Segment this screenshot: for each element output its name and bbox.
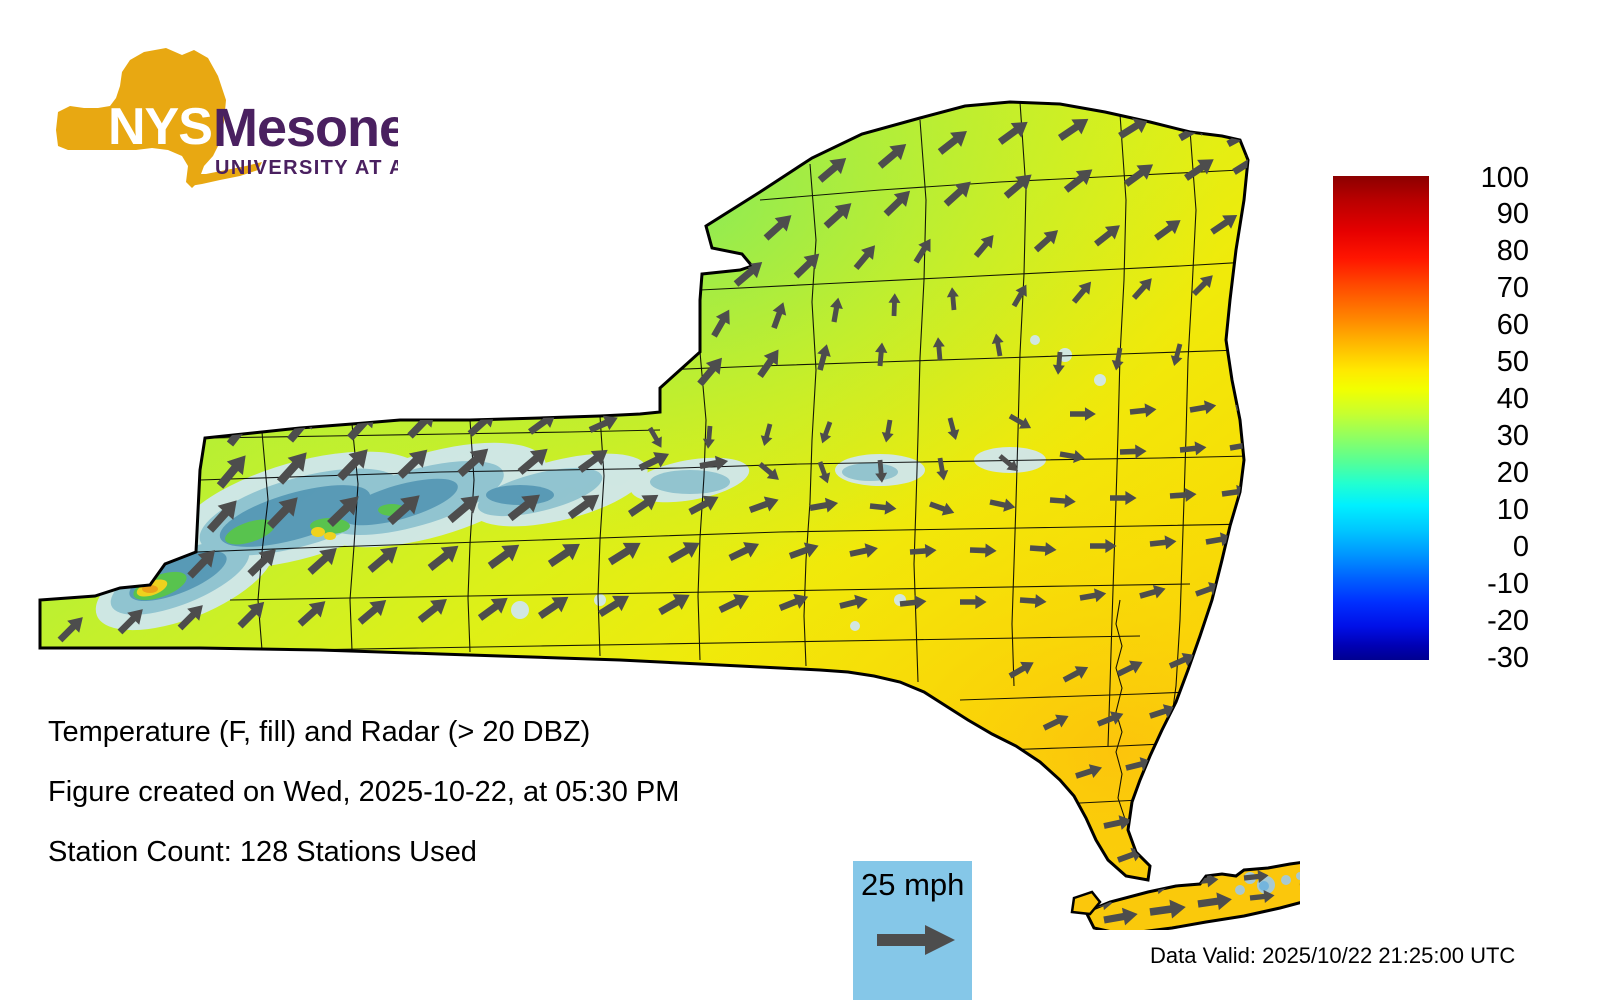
wind-key-arrow-icon: [875, 923, 957, 957]
wind-speed-key: 25 mph: [853, 861, 972, 1000]
colorbar-tick-80: 80: [1433, 237, 1529, 266]
colorbar-tick-100: 100: [1433, 164, 1529, 193]
colorbar-tick-50: 50: [1433, 348, 1529, 377]
colorbar-tick-neg10: -10: [1433, 570, 1529, 599]
colorbar-tick-30: 30: [1433, 422, 1529, 451]
colorbar-tick-70: 70: [1433, 274, 1529, 303]
colorbar-tick-90: 90: [1433, 200, 1529, 229]
colorbar-tick-neg20: -20: [1433, 607, 1529, 636]
data-valid-timestamp: Data Valid: 2025/10/22 21:25:00 UTC: [1150, 943, 1515, 969]
caption-title: Temperature (F, fill) and Radar (> 20 DB…: [48, 718, 848, 747]
colorbar-tick-40: 40: [1433, 385, 1529, 414]
colorbar-tick-neg30: -30: [1433, 644, 1529, 673]
wind-key-label: 25 mph: [861, 867, 964, 903]
colorbar-tick-0: 0: [1433, 533, 1529, 562]
caption-station-count: Station Count: 128 Stations Used: [48, 838, 848, 867]
figure-caption-block: Temperature (F, fill) and Radar (> 20 DB…: [48, 718, 848, 898]
colorbar-tick-10: 10: [1433, 496, 1529, 525]
temperature-colorbar: 100 90 80 70 60 50 40 30 20 10 0 -10 -20…: [1333, 176, 1573, 666]
colorbar-gradient: [1333, 176, 1429, 660]
colorbar-tick-60: 60: [1433, 311, 1529, 340]
colorbar-tick-20: 20: [1433, 459, 1529, 488]
weather-map-figure: NYS Mesonet UNIVERSITY AT ALBANY: [0, 0, 1600, 1000]
caption-created: Figure created on Wed, 2025-10-22, at 05…: [48, 778, 848, 807]
